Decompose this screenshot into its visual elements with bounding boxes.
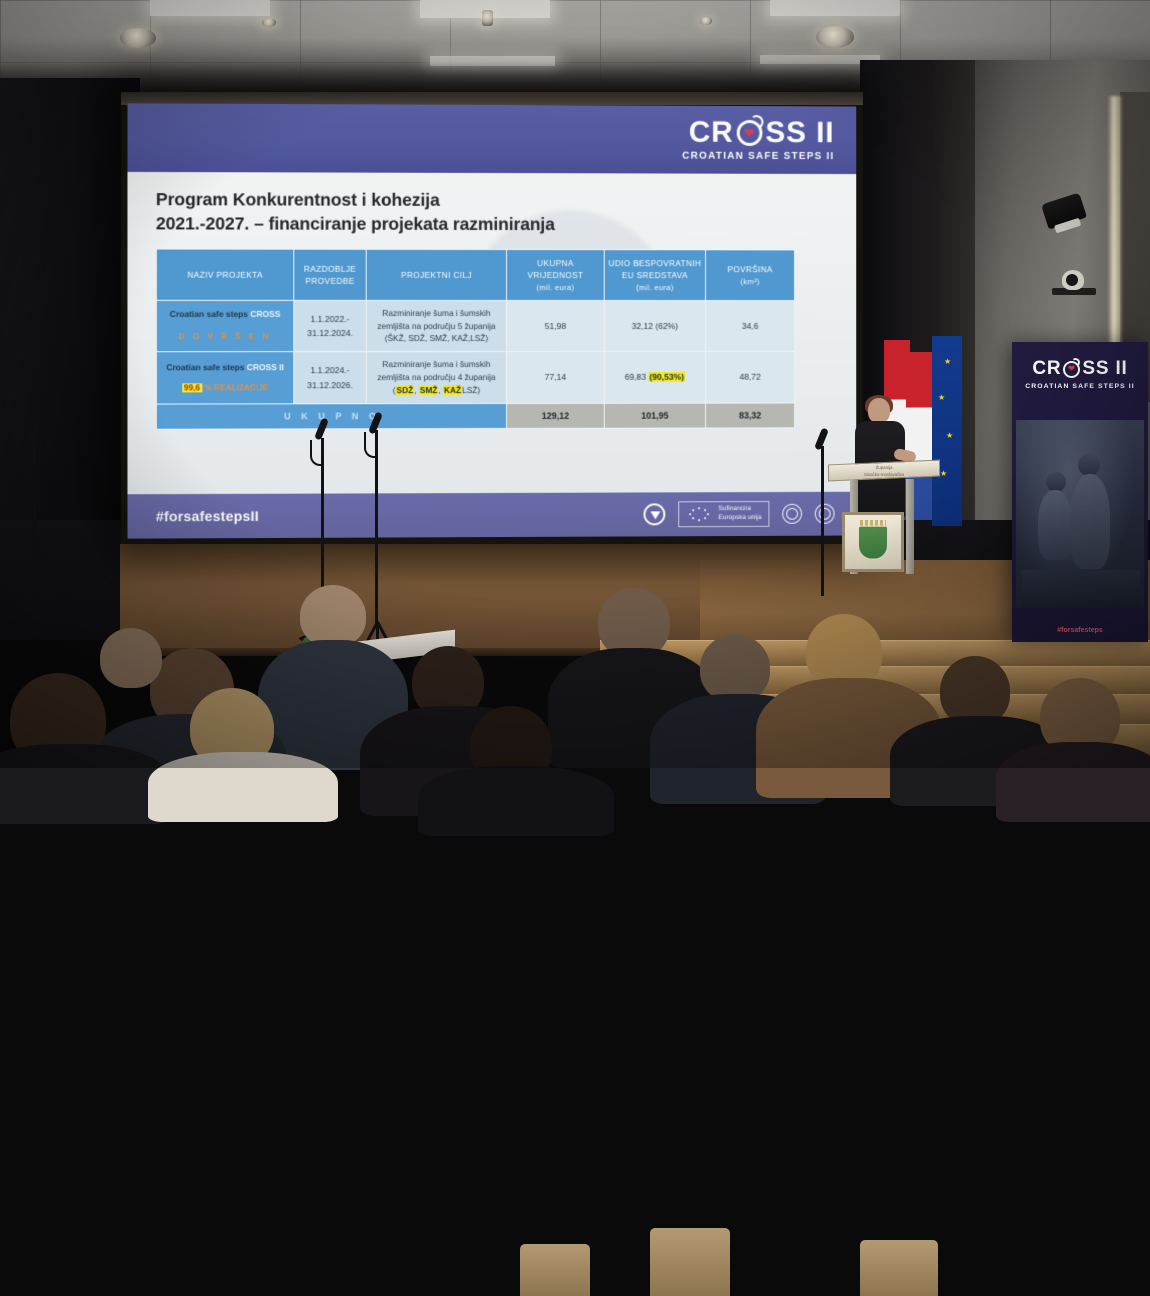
banner-logo-pre: CR (1032, 358, 1061, 380)
eu-share-percent: (90,53%) (648, 372, 685, 382)
audience-shoulders (148, 752, 338, 822)
county-highlight: SMŽ (419, 385, 439, 395)
footer-hashtag: #forsafestepsII (156, 508, 259, 524)
nameplate-line1: Županija (834, 465, 934, 472)
col-label: UKUPNA VRIJEDNOST (527, 258, 583, 280)
col-unit: (km²) (740, 277, 759, 286)
slide-title: Program Konkurentnost i kohezija 2021.-2… (156, 188, 833, 237)
eu-share-percent: (62%) (655, 321, 678, 331)
ceiling-light-panel (150, 0, 270, 16)
chair (650, 1228, 730, 1296)
cell-period: 1.1.2022.- 31.12.2024. (294, 300, 366, 352)
col-razdoblje-provedbe: RAZDOBLJE PROVEDBE (294, 249, 366, 300)
cell-eu-share: 32,12 (62%) (604, 300, 705, 351)
status-badge: D O V R Š E N (161, 331, 289, 344)
cell-total-value: 77,14 (506, 352, 604, 404)
col-naziv-projekta: NAZIV PROJEKTA (156, 249, 293, 300)
projects-table: NAZIV PROJEKTA RAZDOBLJE PROVEDBE PROJEK… (156, 248, 795, 429)
footer-logos: Sufinancira Europska unija (644, 501, 835, 528)
audience-shoulders (0, 744, 170, 824)
table-row: Croatian safe steps CROSS D O V R Š E N … (156, 300, 794, 352)
realization-label: % REALIZACIJE (202, 383, 268, 392)
total-eu-share: 101,95 (604, 403, 705, 428)
logo-text-pre: CR (689, 118, 734, 148)
eu-stars-icon (687, 505, 713, 523)
banner-logo-post: SS II (1082, 358, 1127, 380)
eu-share-value: 32,12 (632, 321, 656, 331)
project-name: CROSS (250, 309, 280, 319)
chair (860, 1240, 938, 1296)
logo-circle-heart-icon: ❤ (1063, 361, 1080, 378)
banner-logo-tagline: CROATIAN SAFE STEPS II (1012, 383, 1148, 390)
conference-room-scene: CR ❤ SS II CROATIAN SAFE STEPS II Progra… (0, 0, 1150, 768)
realization-percent: 99,6 (182, 384, 202, 393)
cell-project-name: Croatian safe steps CROSS II 99,6 % REAL… (156, 352, 293, 404)
cell-period: 1.1.2024.- 31.12.2026. (294, 352, 366, 404)
col-label: POVRŠINA (727, 264, 772, 274)
sprinkler-icon (482, 10, 493, 26)
table-header-row: NAZIV PROJEKTA RAZDOBLJE PROVEDBE PROJEK… (156, 249, 794, 301)
child-head (1078, 454, 1100, 476)
total-value: 129,12 (506, 403, 604, 428)
col-unit: (mil. eura) (536, 283, 574, 292)
col-label: PROJEKTNI CILJ (401, 270, 472, 280)
slide-header: CR ❤ SS II CROATIAN SAFE STEPS II (127, 103, 856, 174)
cross-logo: CR ❤ SS II CROATIAN SAFE STEPS II (682, 118, 834, 162)
downlight-icon (262, 18, 276, 27)
project-name: CROSS II (247, 362, 284, 372)
eu-text-line1: Sufinancira (718, 505, 761, 514)
audience (0, 528, 1150, 768)
eu-text-line2: Europska unija (718, 514, 761, 523)
project-name-prefix: Croatian safe steps (166, 362, 246, 372)
chair (520, 1244, 590, 1296)
col-ukupna-vrijednost: UKUPNA VRIJEDNOST (mil. eura) (506, 249, 604, 300)
ceiling-light-panel (770, 0, 900, 16)
county-highlight: KAŽ (443, 385, 462, 395)
eu-share-value: 69,83 (625, 372, 649, 382)
slide-title-line2: 2021.-2027. – financiranje projekata raz… (156, 212, 833, 237)
banner-logo-wordmark: CR ❤ SS II (1012, 358, 1148, 380)
downlight-icon (816, 26, 854, 48)
logo-heart-icon: ❤ (744, 127, 755, 139)
slide-body: Program Konkurentnost i kohezija 2021.-2… (127, 172, 856, 494)
audience-head (300, 585, 366, 647)
table-total-row: U K U P N O 129,12 101,95 83,32 (156, 403, 794, 429)
cell-goal: Razminiranje šuma i šumskih zemljišta na… (366, 352, 506, 404)
logo-circle-heart-icon: ❤ (737, 120, 763, 146)
cell-area: 48,72 (706, 352, 795, 403)
cell-goal: Razminiranje šuma i šumskih zemljišta na… (366, 300, 506, 352)
presentation-slide: CR ❤ SS II CROATIAN SAFE STEPS II Progra… (127, 103, 856, 538)
institution-seal-icon (782, 504, 802, 524)
podium-nameplate: Županija Sisačko-moslavačka (834, 464, 934, 477)
downlight-icon (120, 28, 156, 48)
total-area: 83,32 (706, 403, 795, 428)
eu-funding-badge: Sufinancira Europska unija (679, 501, 770, 527)
col-label: NAZIV PROJEKTA (187, 269, 263, 279)
cross-logo-tagline: CROATIAN SAFE STEPS II (682, 151, 834, 162)
downlight-icon (700, 17, 712, 25)
cell-project-name: Croatian safe steps CROSS D O V R Š E N (156, 300, 293, 352)
nameplate-line2: Sisačko-moslavačka (834, 472, 934, 477)
goal-text-post: LSŽ) (462, 385, 480, 395)
col-unit: (mil. eura) (636, 283, 674, 292)
audience-head (100, 628, 162, 688)
child-head (1046, 472, 1066, 492)
col-udio-eu-sredstava: UDIO BESPOVRATNIH EU SREDSTAVA (mil. eur… (604, 249, 705, 300)
audience-shoulders (418, 766, 614, 836)
eu-funding-text: Sufinancira Europska unija (718, 505, 761, 523)
col-projektni-cilj: PROJEKTNI CILJ (366, 249, 506, 300)
cell-area: 34,6 (706, 300, 795, 351)
demining-logo-icon (644, 503, 666, 525)
total-label: U K U P N O (156, 403, 506, 429)
logo-heart-icon: ❤ (1068, 365, 1076, 373)
cross-logo-wordmark: CR ❤ SS II (682, 118, 834, 148)
col-label: RAZDOBLJE PROVEDBE (304, 263, 356, 285)
table-row: Croatian safe steps CROSS II 99,6 % REAL… (156, 352, 794, 404)
banner-logo: CR ❤ SS II CROATIAN SAFE STEPS II (1012, 342, 1148, 400)
project-name-prefix: Croatian safe steps (170, 309, 250, 319)
cell-total-value: 51,98 (506, 300, 604, 352)
speaker-head (868, 398, 890, 423)
col-label: UDIO BESPOVRATNIH EU SREDSTAVA (608, 258, 701, 280)
status-badge: 99,6 % REALIZACIJE (161, 381, 289, 394)
cell-eu-share: 69,83 (90,53%) (604, 352, 705, 404)
audience-shoulders (996, 742, 1150, 822)
col-povrsina: POVRŠINA (km²) (706, 249, 795, 300)
ptz-camera-icon (1062, 270, 1084, 290)
logo-text-post: SS II (765, 118, 834, 148)
audience-head (700, 634, 770, 702)
county-highlight: SDŽ (396, 385, 415, 395)
slide-title-line1: Program Konkurentnost i kohezija (156, 188, 833, 213)
